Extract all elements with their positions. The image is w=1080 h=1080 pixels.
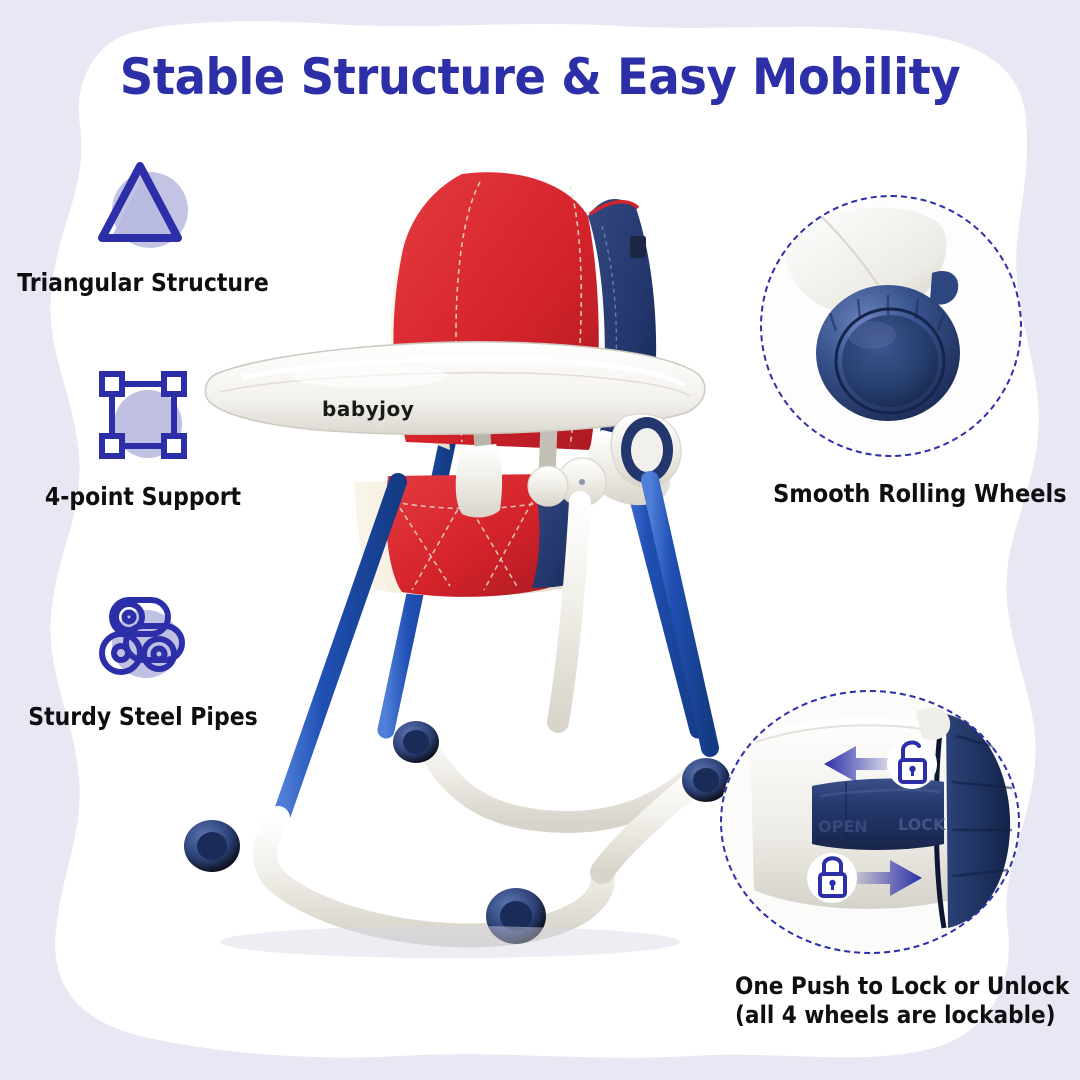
callout-one-push-lock: OPEN LOCK	[720, 690, 1020, 1031]
callout-caption-line2: (all 4 wheels are lockable)	[735, 1001, 1005, 1030]
lever-open-label: OPEN	[818, 817, 868, 836]
brand-logo: babyjoy	[322, 397, 414, 421]
product-feature-graphic: Stable Structure & Easy Mobility Triangu…	[0, 0, 1080, 1080]
caster-wheel	[393, 721, 439, 763]
callout-caption-line1: One Push to Lock or Unlock	[735, 972, 1005, 1001]
lever-lock-label: LOCK	[898, 815, 946, 834]
unlock-padlock-icon	[887, 739, 937, 789]
product-image-high-chair: babyjoy	[150, 130, 770, 960]
wheel-lock-lever-closeup: OPEN LOCK	[720, 690, 1020, 954]
callout-smooth-rolling-wheels: Smooth Rolling Wheels	[760, 195, 1022, 510]
callout-caption: Smooth Rolling Wheels	[773, 479, 1009, 510]
caster-wheel-closeup	[760, 195, 1022, 457]
callout-caption: One Push to Lock or Unlock (all 4 wheels…	[735, 972, 1005, 1031]
caster-wheel	[184, 820, 240, 872]
lock-padlock-icon	[807, 853, 857, 903]
page-title: Stable Structure & Easy Mobility	[38, 48, 1042, 106]
